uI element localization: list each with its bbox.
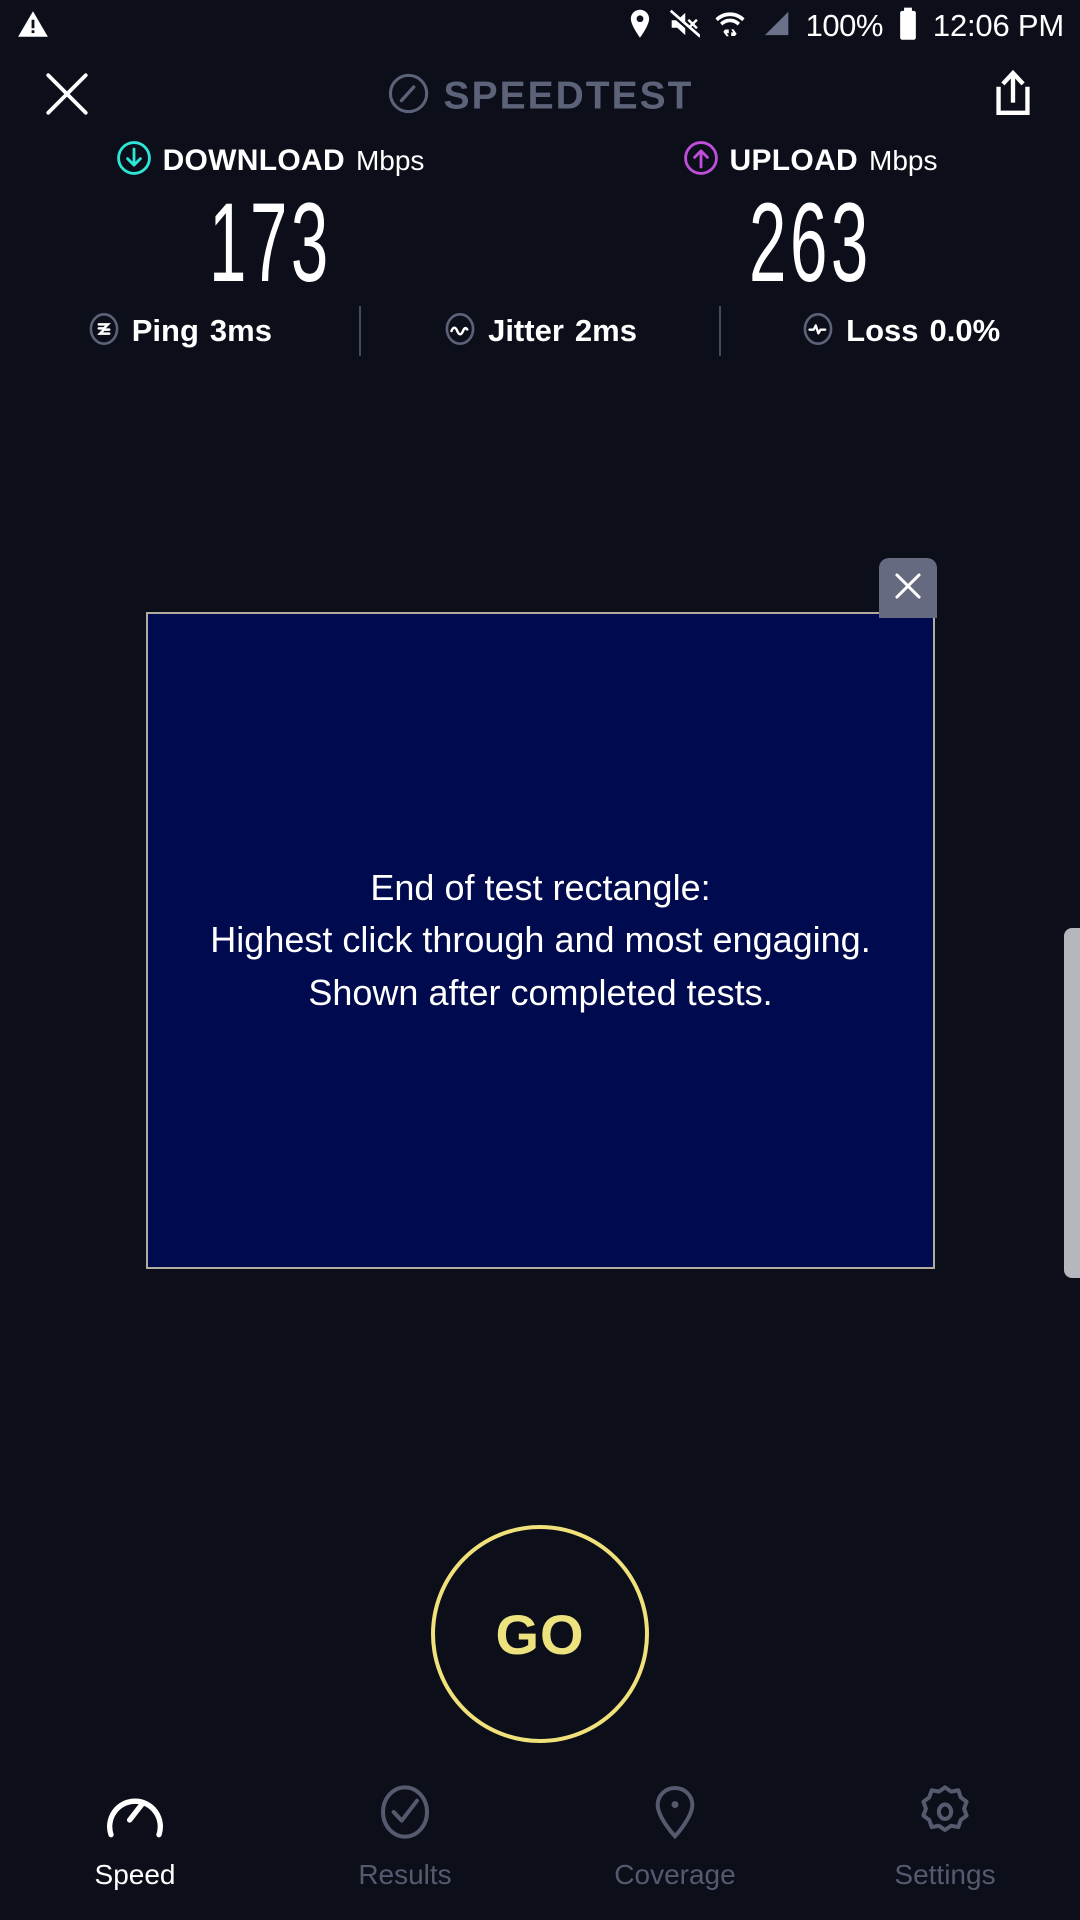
nav-label-results: Results <box>358 1859 451 1891</box>
metrics-row: Ping 3ms Jitter 2ms Loss 0.0% <box>0 300 1080 362</box>
upload-arrow-icon <box>683 140 719 181</box>
metric-jitter: Jitter 2ms <box>361 312 720 351</box>
scrollbar-thumb[interactable] <box>1064 928 1080 1278</box>
nav-label-coverage: Coverage <box>614 1859 735 1891</box>
speedometer-icon <box>387 72 431 121</box>
nav-item-speed[interactable]: Speed <box>0 1784 270 1891</box>
share-button[interactable] <box>984 67 1042 125</box>
speed-results-row: DOWNLOAD Mbps 173 UPLOAD Mbps 263 <box>0 140 1080 299</box>
status-bar-left <box>16 7 50 46</box>
metric-loss: Loss 0.0% <box>721 312 1080 351</box>
wifi-icon <box>714 8 746 45</box>
location-pin-icon <box>645 1784 705 1845</box>
nav-label-settings: Settings <box>894 1859 995 1891</box>
download-unit: Mbps <box>356 145 424 177</box>
volume-muted-icon <box>668 9 700 44</box>
battery-full-icon <box>897 7 919 46</box>
check-circle-icon <box>375 1784 435 1845</box>
warning-triangle-icon <box>16 7 50 46</box>
ping-icon <box>87 312 121 351</box>
jitter-label: Jitter <box>488 313 564 349</box>
upload-label: UPLOAD <box>730 144 858 178</box>
app-header: SPEEDTEST <box>0 52 1080 140</box>
download-label-row: DOWNLOAD Mbps <box>116 140 425 181</box>
download-label: DOWNLOAD <box>163 144 345 178</box>
share-icon <box>989 68 1037 125</box>
status-bar-time: 12:06 PM <box>933 8 1064 44</box>
download-result: DOWNLOAD Mbps 173 <box>0 140 540 299</box>
battery-percent-label: 100% <box>806 8 883 44</box>
jitter-value: 2ms <box>575 313 637 349</box>
loss-icon <box>801 312 835 351</box>
ad-close-button[interactable] <box>879 558 937 618</box>
ping-value: 3ms <box>210 313 272 349</box>
close-icon <box>42 69 92 124</box>
ping-label: Ping <box>132 313 199 349</box>
download-arrow-icon <box>116 140 152 181</box>
speedometer-icon <box>105 1784 165 1845</box>
advertisement-text: End of test rectangle: Highest click thr… <box>210 862 870 1019</box>
upload-label-row: UPLOAD Mbps <box>683 140 938 181</box>
upload-unit: Mbps <box>869 145 937 177</box>
metric-ping: Ping 3ms <box>0 312 359 351</box>
status-bar-right: 100% 12:06 PM <box>626 7 1064 46</box>
results-section: DOWNLOAD Mbps 173 UPLOAD Mbps 263 <box>0 140 1080 299</box>
jitter-icon <box>443 312 477 351</box>
close-button[interactable] <box>38 67 96 125</box>
go-button[interactable]: GO <box>431 1525 649 1743</box>
loss-label: Loss <box>846 313 918 349</box>
nav-label-speed: Speed <box>95 1859 176 1891</box>
upload-result: UPLOAD Mbps 263 <box>540 140 1080 299</box>
app-brand: SPEEDTEST <box>387 72 694 121</box>
bottom-navigation: Speed Results Coverage Settings <box>0 1770 1080 1920</box>
status-bar: 100% 12:06 PM <box>0 0 1080 52</box>
upload-value: 263 <box>749 187 872 299</box>
app-title: SPEEDTEST <box>444 74 694 118</box>
nav-item-coverage[interactable]: Coverage <box>540 1784 810 1891</box>
download-value: 173 <box>209 187 332 299</box>
location-pin-icon <box>626 8 654 45</box>
go-button-label: GO <box>495 1602 584 1667</box>
loss-value: 0.0% <box>930 313 1001 349</box>
gear-icon <box>915 1784 975 1845</box>
nav-item-settings[interactable]: Settings <box>810 1784 1080 1891</box>
nav-item-results[interactable]: Results <box>270 1784 540 1891</box>
advertisement-banner[interactable]: End of test rectangle: Highest click thr… <box>146 612 935 1269</box>
close-icon <box>892 570 924 607</box>
cellular-signal-icon <box>760 9 792 44</box>
